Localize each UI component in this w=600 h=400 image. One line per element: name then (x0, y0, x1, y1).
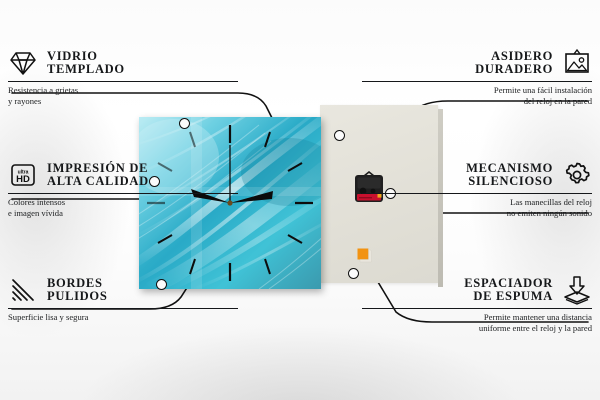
feature-description: Superficie lisa y segura (8, 312, 238, 322)
diamond-icon (8, 48, 38, 78)
infographic-root: VIDRIO TEMPLADO Resistencia a grietas y … (0, 0, 600, 400)
feature-espaciador-de-espuma: ESPACIADOR DE ESPUMA Permite mantener un… (362, 275, 592, 333)
feature-description: Permite mantener una distancia uniforme … (362, 312, 592, 333)
feature-impresion-alta-calidad: ultra HD IMPRESIÓN DE ALTA CALIDAD Color… (8, 160, 238, 218)
feature-title: ASIDERO DURADERO (475, 50, 553, 77)
feature-mecanismo-silencioso: MECANISMO SILENCIOSO Las manecillas del … (362, 160, 592, 218)
feature-description: Las manecillas del reloj no emiten ningú… (362, 197, 592, 218)
svg-text:HD: HD (16, 174, 30, 185)
picture-hanger-icon (562, 48, 592, 78)
polished-edge-icon (8, 275, 38, 305)
divider (362, 308, 592, 309)
foam-spacer (357, 248, 372, 263)
divider (8, 81, 238, 82)
connector-dot-vidrio (179, 118, 190, 129)
feature-title: BORDES PULIDOS (47, 277, 107, 304)
divider (8, 193, 238, 194)
divider (8, 308, 238, 309)
foam-spacer-icon (562, 275, 592, 305)
divider (362, 81, 592, 82)
gear-icon (562, 160, 592, 190)
feature-title: MECANISMO SILENCIOSO (466, 162, 553, 189)
divider (362, 193, 592, 194)
feature-vidrio-templado: VIDRIO TEMPLADO Resistencia a grietas y … (8, 48, 238, 106)
connector-dot-espaciador (348, 268, 359, 279)
feature-description: Resistencia a grietas y rayones (8, 85, 238, 106)
feature-title: VIDRIO TEMPLADO (47, 50, 125, 77)
connector-dot-asidero (334, 130, 345, 141)
feature-description: Permite una fácil instalación del reloj … (362, 85, 592, 106)
feature-title: IMPRESIÓN DE ALTA CALIDAD (47, 162, 149, 189)
ultra-hd-icon: ultra HD (8, 160, 38, 190)
feature-title: ESPACIADOR DE ESPUMA (464, 277, 553, 304)
feature-description: Colores intensos e imagen vívida (8, 197, 238, 218)
feature-bordes-pulidos: BORDES PULIDOS Superficie lisa y segura (8, 275, 238, 323)
feature-asidero-duradero: ASIDERO DURADERO Permite una fácil insta… (362, 48, 592, 106)
